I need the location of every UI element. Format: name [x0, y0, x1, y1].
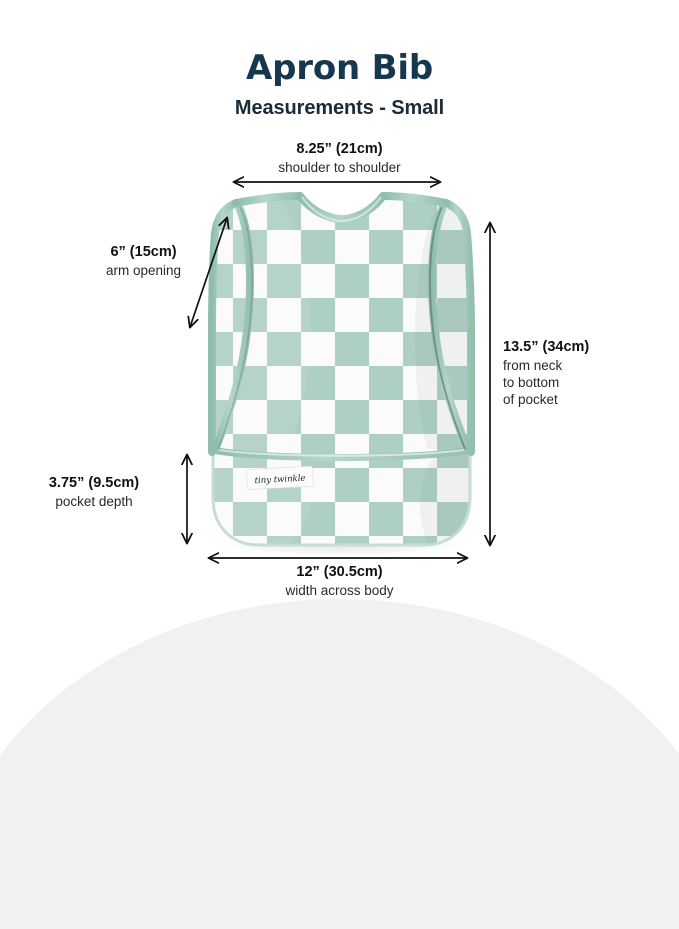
apron-bib-illustration: tiny twinkle [0, 0, 679, 679]
brand-label: tiny twinkle [246, 466, 313, 489]
measurement-diagram: Apron Bib Measurements - Small [0, 0, 679, 679]
bib-body [190, 180, 495, 490]
